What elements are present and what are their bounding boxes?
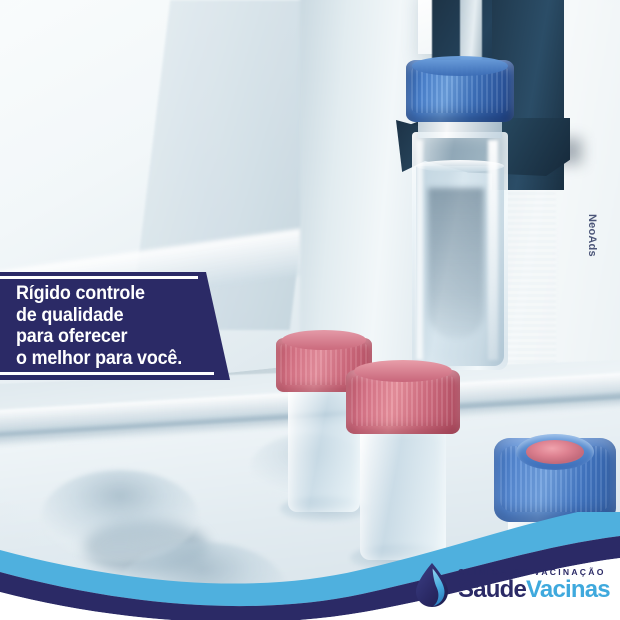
headline-banner: Rígido controle de qualidade para oferec… (0, 272, 238, 380)
brand-text: CLÍNICA DE VACINAÇÃO SaúdeVacinas (458, 568, 610, 603)
vial-highlight-left (416, 140, 423, 360)
headline-rule-bottom (0, 372, 214, 375)
headline-rule-top (0, 276, 198, 279)
advertisement-canvas: Rígido controle de qualidade para oferec… (0, 0, 620, 620)
headline-line-2: de qualidade (16, 305, 209, 327)
brand-name-part-1: Saúde (458, 576, 526, 603)
brand-tagline: CLÍNICA DE VACINAÇÃO (458, 568, 610, 577)
vial-cap-top (412, 56, 508, 76)
vial-highlight-right (488, 140, 498, 360)
headline-line-4: o melhor para você. (16, 348, 209, 370)
neoads-watermark: NeoAds (586, 214, 598, 257)
brand-logo[interactable]: CLÍNICA DE VACINAÇÃO SaúdeVacinas (414, 562, 610, 608)
headline-line-1: Rígido controle (16, 283, 209, 305)
footer-wave: CLÍNICA DE VACINAÇÃO SaúdeVacinas (0, 512, 620, 620)
brand-name-part-2: Vacinas (526, 576, 610, 603)
vial-inner-shadow (428, 188, 484, 338)
headline-line-3: para oferecer (16, 326, 209, 348)
vial-blue-cap-top (402, 60, 518, 370)
vial-septum (526, 440, 584, 464)
water-droplet-icon (414, 562, 450, 608)
headline-copy: Rígido controle de qualidade para oferec… (16, 283, 226, 369)
vial-cap-top (354, 360, 452, 382)
vial-cap-top (282, 330, 366, 350)
brand-name: SaúdeVacinas (458, 578, 610, 602)
